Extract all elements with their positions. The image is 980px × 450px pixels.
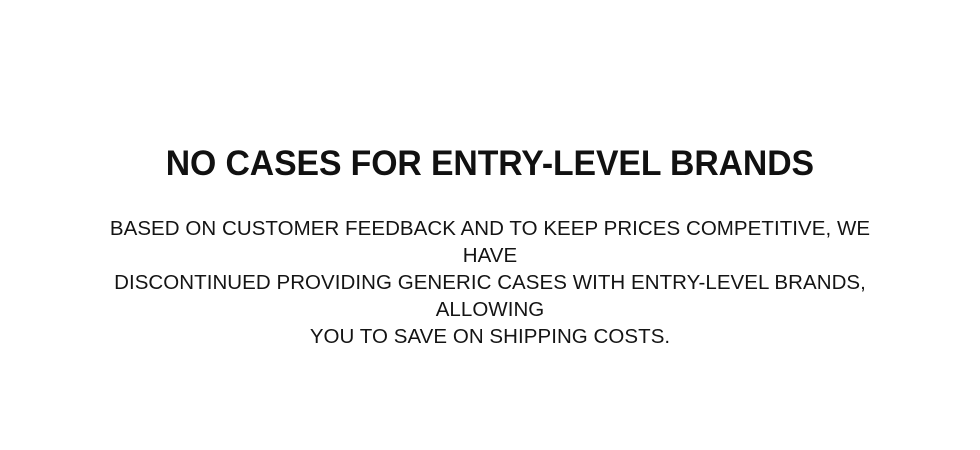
notice-body-line-1: BASED ON CUSTOMER FEEDBACK AND TO KEEP P…	[90, 215, 890, 269]
notice-body-text: BASED ON CUSTOMER FEEDBACK AND TO KEEP P…	[90, 215, 890, 350]
promo-notice-section: NO CASES FOR ENTRY-LEVEL BRANDS BASED ON…	[0, 0, 980, 450]
page-title: NO CASES FOR ENTRY-LEVEL BRANDS	[166, 143, 814, 185]
notice-body-line-2: DISCONTINUED PROVIDING GENERIC CASES WIT…	[90, 269, 890, 323]
notice-body-line-3: YOU TO SAVE ON SHIPPING COSTS.	[90, 323, 890, 350]
